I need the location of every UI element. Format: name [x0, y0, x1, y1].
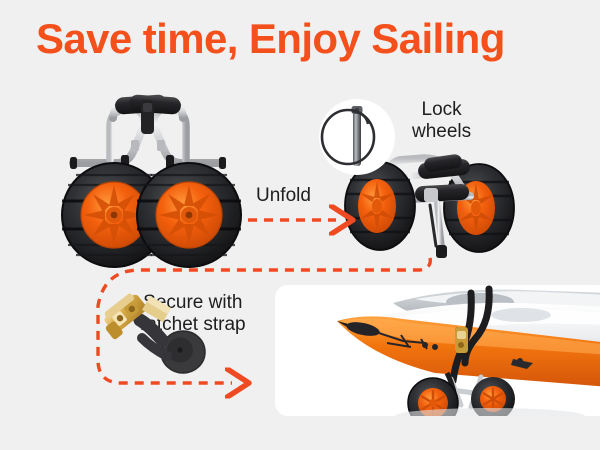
flow-arrows	[0, 0, 600, 450]
dashed-curved-arrow-icon	[98, 258, 430, 383]
infographic-canvas: Save time, Enjoy Sailing	[0, 0, 600, 450]
